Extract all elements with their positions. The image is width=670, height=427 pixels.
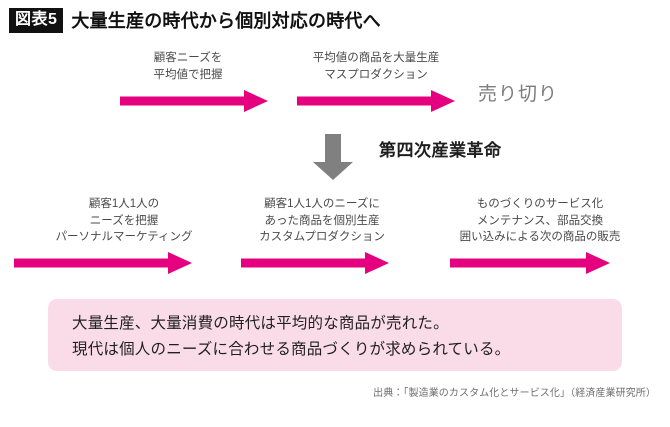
bottom-step1-caption: 顧客1人1人の ニーズを把握 パーソナルマーケティング bbox=[22, 196, 226, 246]
arrow-down-icon bbox=[313, 134, 353, 180]
top-outcome-label: 売り切り bbox=[478, 85, 558, 104]
bottom-step1-arrow-icon bbox=[14, 252, 192, 274]
figure-title-row: 図表5 大量生産の時代から個別対応の時代へ bbox=[9, 8, 381, 33]
source-citation: 出典：「製造業のカスタム化とサービス化」（経済産業研究所） bbox=[373, 389, 656, 399]
bottom-step2-caption: 顧客1人1人のニーズに あった商品を個別生産 カスタムプロダクション bbox=[240, 196, 404, 246]
top-step1-caption: 顧客ニーズを 平均値で把握 bbox=[120, 50, 256, 83]
page-title: 大量生産の時代から個別対応の時代へ bbox=[71, 12, 380, 30]
figure-number-badge: 図表5 bbox=[9, 8, 63, 33]
bottom-step3-arrow-icon bbox=[450, 252, 610, 274]
summary-text: 大量生産、大量消費の時代は平均的な商品が売れた。 現代は個人のニーズに合わせる商… bbox=[72, 311, 510, 362]
fourth-industrial-revolution-label: 第四次産業革命 bbox=[379, 142, 502, 159]
top-step2-arrow-icon bbox=[297, 90, 455, 112]
top-step2-caption: 平均値の商品を大量生産 マスプロダクション bbox=[290, 50, 462, 83]
bottom-step2-arrow-icon bbox=[241, 252, 389, 274]
bottom-step3-caption: ものづくりのサービス化 メンテナンス、部品交換 囲い込みによる次の商品の販売 bbox=[424, 196, 656, 246]
top-step1-arrow-icon bbox=[120, 90, 268, 112]
